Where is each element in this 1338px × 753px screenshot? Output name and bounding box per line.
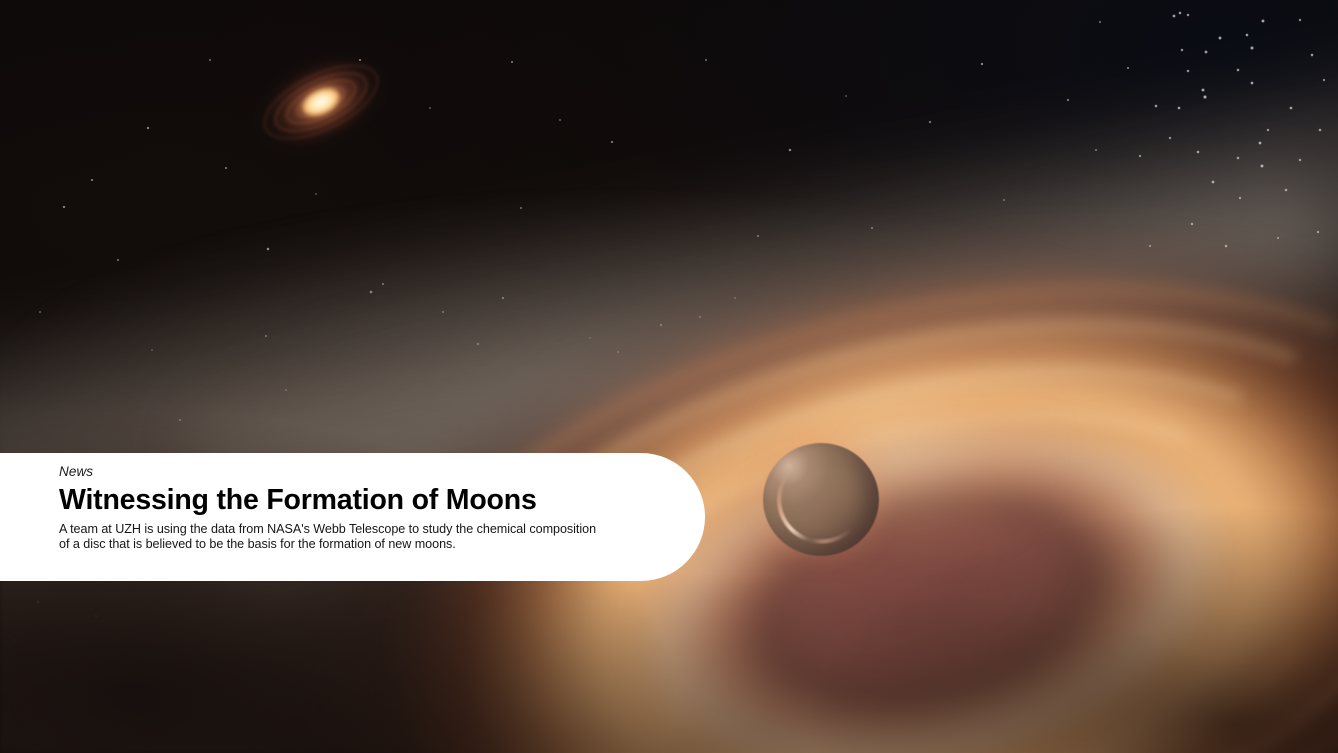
hero-banner: News Witnessing the Formation of Moons A… <box>0 0 1338 753</box>
category-label: News <box>59 464 705 480</box>
image-vignette <box>0 0 1338 753</box>
page-title[interactable]: Witnessing the Formation of Moons <box>59 483 705 517</box>
hero-image <box>0 0 1338 753</box>
caption-card[interactable]: News Witnessing the Formation of Moons A… <box>0 453 705 581</box>
article-summary: A team at UZH is using the data from NAS… <box>59 522 604 553</box>
